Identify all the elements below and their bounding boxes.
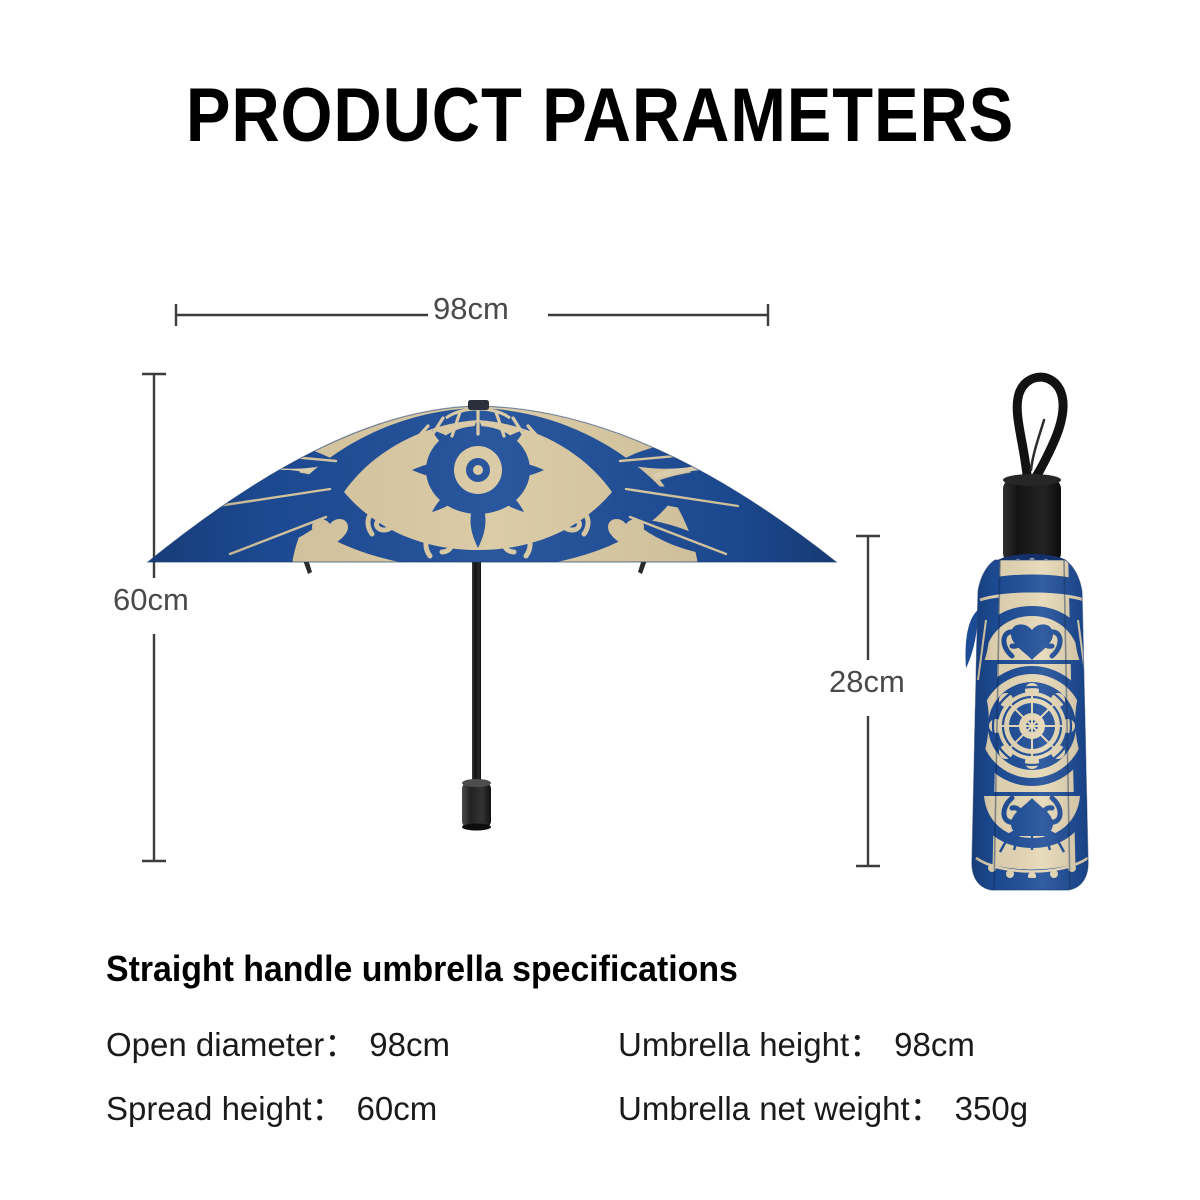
umbrella-handle-grip	[462, 782, 491, 828]
dimension-label-folded: 28cm	[829, 666, 905, 697]
spec-value: 60cm	[357, 1090, 438, 1127]
spec-row: Umbrella height：98cm	[618, 1028, 975, 1061]
folded-umbrella-illustration	[960, 377, 1110, 900]
spec-row: Umbrella net weight：350g	[618, 1092, 1028, 1125]
spec-label: Umbrella height：	[618, 1026, 882, 1063]
spec-label: Umbrella net weight：	[618, 1090, 943, 1127]
specifications-block: Straight handle umbrella specifications …	[0, 940, 1200, 1200]
dimension-label-width: 98cm	[433, 293, 509, 324]
dimension-label-height: 60cm	[113, 584, 189, 615]
spec-value: 98cm	[894, 1026, 975, 1063]
spec-label: Spread height：	[106, 1090, 345, 1127]
spec-label: Open diameter：	[106, 1026, 357, 1063]
specifications-heading: Straight handle umbrella specifications	[106, 948, 738, 990]
open-umbrella-illustration	[140, 395, 850, 831]
spec-value: 350g	[955, 1090, 1028, 1127]
product-diagram: 98cm 60cm 28cm	[0, 0, 1200, 930]
dimension-line-height	[142, 374, 166, 861]
folded-umbrella-handle	[1003, 478, 1061, 564]
umbrella-shaft	[472, 556, 481, 788]
spec-row: Open diameter：98cm	[106, 1028, 450, 1061]
spec-value: 98cm	[369, 1026, 450, 1063]
umbrella-canopy	[140, 395, 850, 580]
diagram-canvas	[0, 0, 1200, 930]
umbrella-tip-ferrule	[468, 400, 489, 410]
dimension-line-folded	[856, 536, 880, 866]
spec-row: Spread height：60cm	[106, 1092, 437, 1125]
